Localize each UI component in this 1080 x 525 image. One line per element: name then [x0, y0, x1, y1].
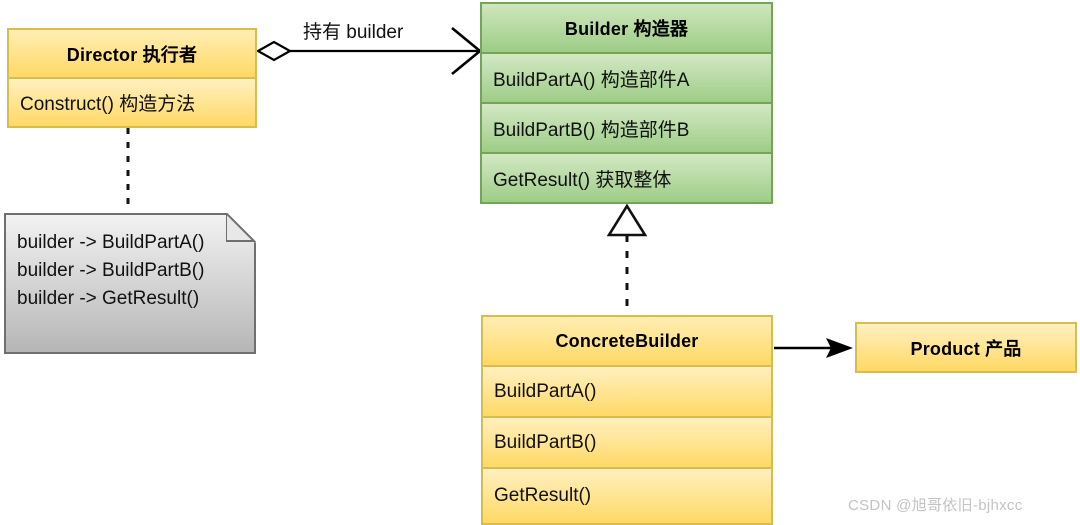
note-line-2: builder -> GetResult() — [17, 285, 254, 313]
class-box-product[interactable]: Product 产品 — [855, 322, 1077, 373]
class-member-concrete-builder-2: GetResult() — [483, 469, 771, 523]
class-member-director-0: Construct() 构造方法 — [9, 79, 255, 126]
class-box-builder[interactable]: Builder 构造器 BuildPartA() 构造部件A BuildPart… — [480, 2, 773, 204]
class-member-builder-0: BuildPartA() 构造部件A — [482, 54, 771, 104]
note-box-director[interactable]: builder -> BuildPartA() builder -> Build… — [4, 213, 256, 354]
note-body: builder -> BuildPartA() builder -> Build… — [6, 215, 254, 313]
relation-association-concrete-product — [774, 338, 853, 358]
class-title-concrete-builder: ConcreteBuilder — [483, 317, 771, 367]
class-title-builder: Builder 构造器 — [482, 4, 771, 54]
class-member-builder-1: BuildPartB() 构造部件B — [482, 104, 771, 154]
class-member-concrete-builder-1: BuildPartB() — [483, 418, 771, 469]
class-box-concrete-builder[interactable]: ConcreteBuilder BuildPartA() BuildPartB(… — [481, 315, 773, 525]
class-member-concrete-builder-0: BuildPartA() — [483, 367, 771, 418]
class-box-director[interactable]: Director 执行者 Construct() 构造方法 — [7, 28, 257, 128]
class-member-builder-2: GetResult() 获取整体 — [482, 154, 771, 202]
relation-label-holds-builder: 持有 builder — [303, 17, 403, 44]
watermark-text: CSDN @旭哥依旧-bjhxcc — [848, 494, 1023, 515]
note-line-0: builder -> BuildPartA() — [17, 229, 254, 257]
note-fold-corner-icon — [226, 213, 256, 243]
class-title-product: Product 产品 — [857, 324, 1075, 371]
class-title-director: Director 执行者 — [9, 30, 255, 79]
note-line-1: builder -> BuildPartB() — [17, 257, 254, 285]
relation-realization-concrete-builder — [609, 206, 645, 314]
